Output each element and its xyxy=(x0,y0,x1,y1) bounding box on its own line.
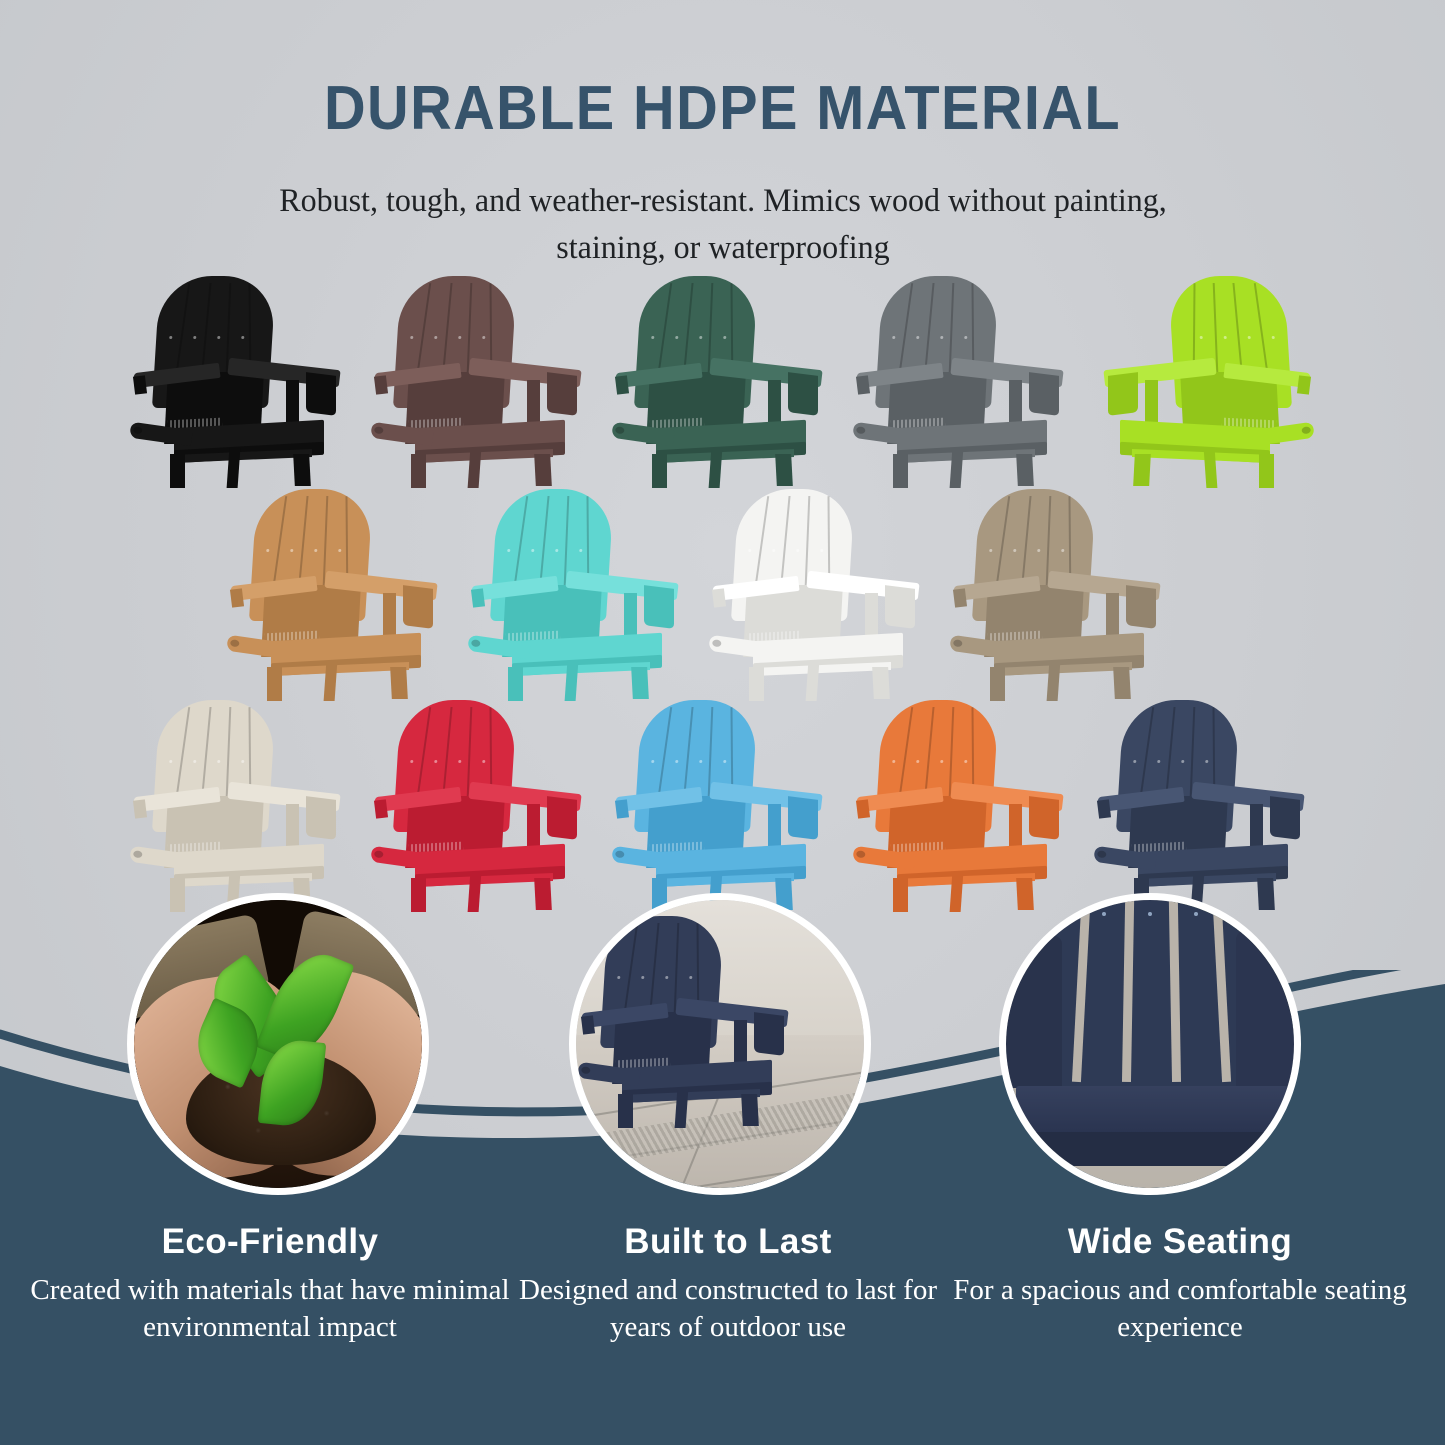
adirondack-chair-icon xyxy=(618,276,826,484)
photo-chair xyxy=(584,916,846,1184)
chair-swatch-khaki[interactable] xyxy=(938,485,1179,700)
chair-swatch-black[interactable] xyxy=(118,272,359,487)
adirondack-chair-icon xyxy=(1100,276,1308,484)
feature-wide-seating: Wide Seating For a spacious and comforta… xyxy=(940,1222,1420,1345)
chair-color-grid xyxy=(0,272,1445,912)
chair-swatch-light-blue[interactable] xyxy=(600,696,841,911)
adirondack-chair-icon xyxy=(1100,700,1308,908)
feature-body: Designed and constructed to last for yea… xyxy=(516,1272,940,1345)
navy-chair-patio-photo xyxy=(569,893,871,1195)
feature-heading: Built to Last xyxy=(516,1222,940,1262)
infographic-canvas: DURABLE HDPE MATERIAL Robust, tough, and… xyxy=(0,0,1445,1445)
chair-swatch-dark-green[interactable] xyxy=(600,272,841,487)
chair-row-1 xyxy=(0,272,1445,487)
feature-heading: Wide Seating xyxy=(940,1222,1420,1262)
page-title: DURABLE HDPE MATERIAL xyxy=(51,78,1395,140)
feature-body: For a spacious and comfortable seating e… xyxy=(940,1272,1420,1345)
adirondack-chair-icon xyxy=(474,489,682,697)
feature-body: Created with materials that have minimal… xyxy=(24,1272,516,1345)
adirondack-chair-icon xyxy=(233,489,441,697)
adirondack-chair-icon xyxy=(956,489,1164,697)
chair-row-2 xyxy=(0,485,1445,700)
chair-swatch-lime-green[interactable] xyxy=(1082,272,1323,487)
adirondack-chair-icon xyxy=(715,489,923,697)
chair-swatch-teak[interactable] xyxy=(215,485,456,700)
navy-chair-seat-closeup-photo xyxy=(999,893,1301,1195)
adirondack-chair-icon xyxy=(136,700,344,908)
chair-swatch-gray[interactable] xyxy=(841,272,1082,487)
feature-built-to-last: Built to Last Designed and constructed t… xyxy=(516,1222,940,1345)
header-block: DURABLE HDPE MATERIAL Robust, tough, and… xyxy=(0,0,1445,272)
chair-swatch-ivory[interactable] xyxy=(118,696,359,911)
chair-swatch-navy[interactable] xyxy=(1082,696,1323,911)
adirondack-chair-icon xyxy=(618,700,826,908)
adirondack-chair-icon xyxy=(136,276,344,484)
page-subtitle: Robust, tough, and weather-resistant. Mi… xyxy=(247,178,1198,272)
chair-swatch-red[interactable] xyxy=(359,696,600,911)
hands-holding-seedling-photo xyxy=(127,893,429,1195)
chair-swatch-turquoise[interactable] xyxy=(456,485,697,700)
adirondack-chair-icon xyxy=(859,276,1067,484)
adirondack-chair-icon xyxy=(377,700,585,908)
feature-eco-friendly: Eco-Friendly Created with materials that… xyxy=(24,1222,516,1345)
chair-swatch-brown[interactable] xyxy=(359,272,600,487)
adirondack-chair-icon xyxy=(377,276,585,484)
chair-swatch-orange[interactable] xyxy=(841,696,1082,911)
chair-row-3 xyxy=(0,696,1445,911)
feature-photos xyxy=(0,893,1445,1213)
feature-heading: Eco-Friendly xyxy=(24,1222,516,1262)
chair-swatch-white[interactable] xyxy=(697,485,938,700)
adirondack-chair-icon xyxy=(859,700,1067,908)
